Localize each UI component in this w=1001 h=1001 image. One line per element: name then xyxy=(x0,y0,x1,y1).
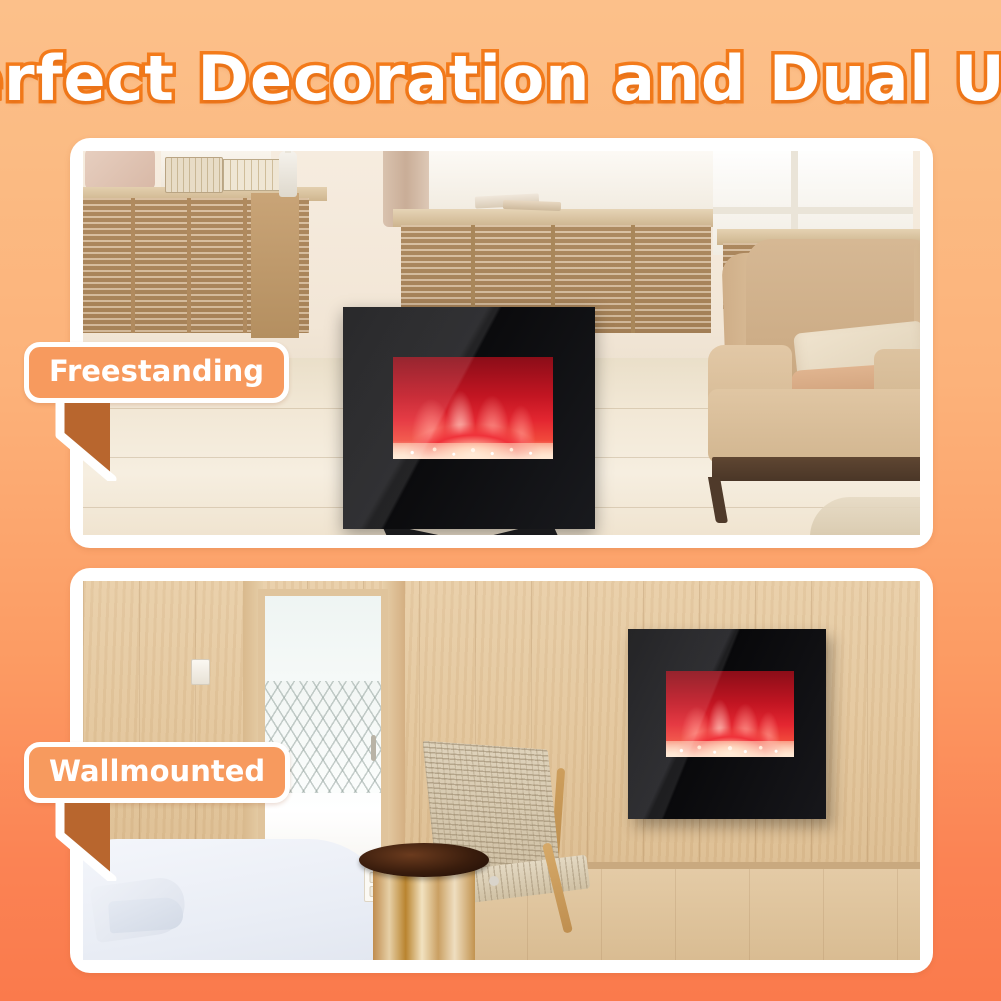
fireplace-glass-panel xyxy=(343,307,595,529)
round-side-table xyxy=(359,843,489,960)
callout-tail xyxy=(54,803,146,881)
chair-leg-left xyxy=(708,477,728,523)
wallmounted-fireplace xyxy=(628,629,826,819)
glass-reflection xyxy=(343,307,595,529)
light-switch xyxy=(191,659,210,685)
woven-basket-2 xyxy=(223,159,285,191)
callout-freestanding: Freestanding xyxy=(24,342,289,403)
decor-pillow xyxy=(85,151,155,191)
bed-linen-fold-2 xyxy=(108,896,184,933)
door-handle xyxy=(371,735,376,761)
chair-base xyxy=(712,457,920,481)
woven-basket xyxy=(165,157,223,193)
fireplace-glass-panel xyxy=(628,629,826,819)
chair-pivot xyxy=(489,876,499,886)
side-table-top xyxy=(359,843,489,877)
callout-label-wallmounted: Wallmounted xyxy=(49,756,265,786)
decor-bottle xyxy=(279,151,297,197)
callout-bubble: Wallmounted xyxy=(24,742,290,803)
freestanding-fireplace xyxy=(343,307,595,529)
glass-reflection xyxy=(628,629,826,819)
callout-label-freestanding: Freestanding xyxy=(49,356,264,386)
outdoor-trees xyxy=(265,596,381,684)
bay-window xyxy=(399,151,729,211)
chair-seat xyxy=(708,389,920,463)
callout-bubble: Freestanding xyxy=(24,342,289,403)
page-title-container: Perfect Decoration and Dual Use xyxy=(0,38,1001,118)
callout-wallmounted: Wallmounted xyxy=(24,742,290,803)
wingback-armchair xyxy=(668,239,920,519)
callout-tail xyxy=(54,403,146,481)
page-title: Perfect Decoration and Dual Use xyxy=(0,42,1001,115)
cabinet-end-panel xyxy=(251,193,299,338)
